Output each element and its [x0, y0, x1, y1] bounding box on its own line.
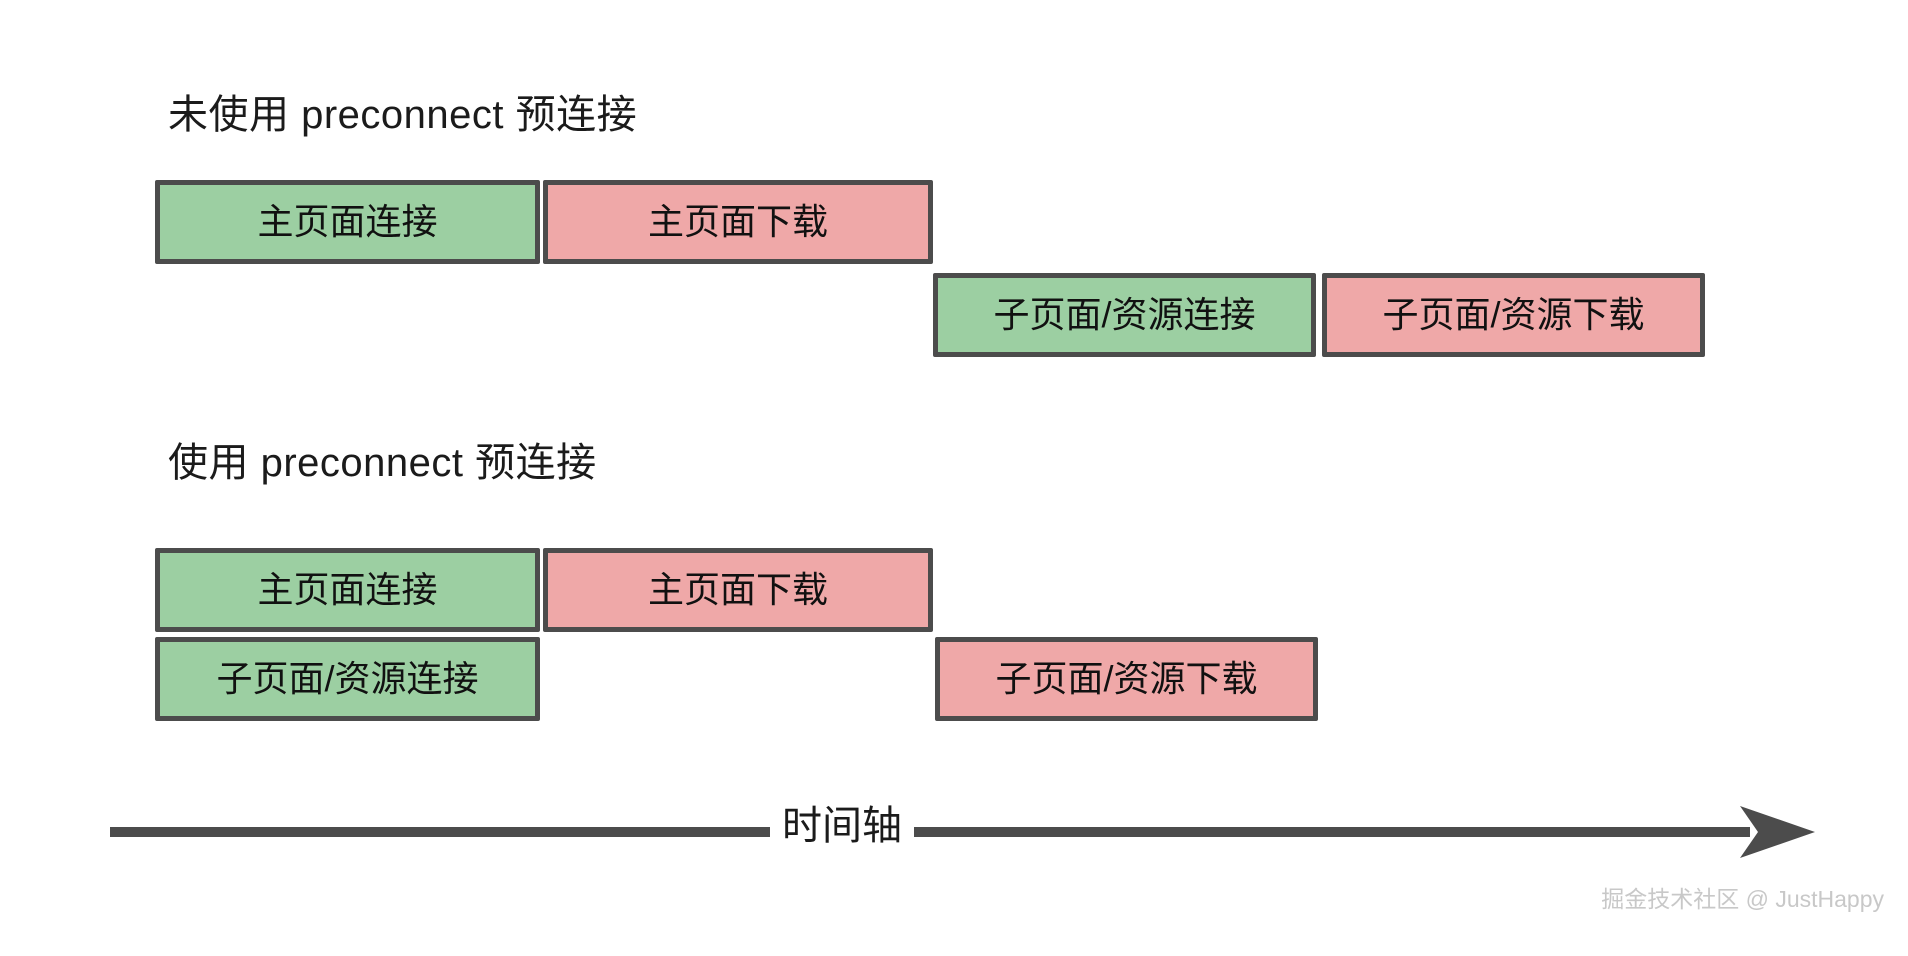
bar-sub-resource-download-no-preconnect: 子页面/资源下载 — [1322, 273, 1705, 357]
section-title-without-preconnect: 未使用 preconnect 预连接 — [168, 95, 637, 135]
bar-main-page-download-with-preconnect: 主页面下载 — [543, 548, 933, 632]
bar-main-page-download-no-preconnect: 主页面下载 — [543, 180, 933, 264]
bar-main-page-connect-no-preconnect: 主页面连接 — [155, 180, 540, 264]
section-title-with-preconnect: 使用 preconnect 预连接 — [168, 443, 597, 483]
timeline-label: 时间轴 — [770, 806, 914, 846]
timeline-arrow — [110, 800, 1815, 864]
bar-sub-resource-connect-with-preconnect: 子页面/资源连接 — [155, 637, 540, 721]
bar-sub-resource-connect-no-preconnect: 子页面/资源连接 — [933, 273, 1316, 357]
diagram-canvas: 未使用 preconnect 预连接 主页面连接 主页面下载 子页面/资源连接 … — [0, 0, 1908, 956]
bar-main-page-connect-with-preconnect: 主页面连接 — [155, 548, 540, 632]
timeline-arrow-icon — [110, 800, 1815, 864]
bar-sub-resource-download-with-preconnect: 子页面/资源下载 — [935, 637, 1318, 721]
watermark: 掘金技术社区 @ JustHappy — [1601, 888, 1884, 911]
